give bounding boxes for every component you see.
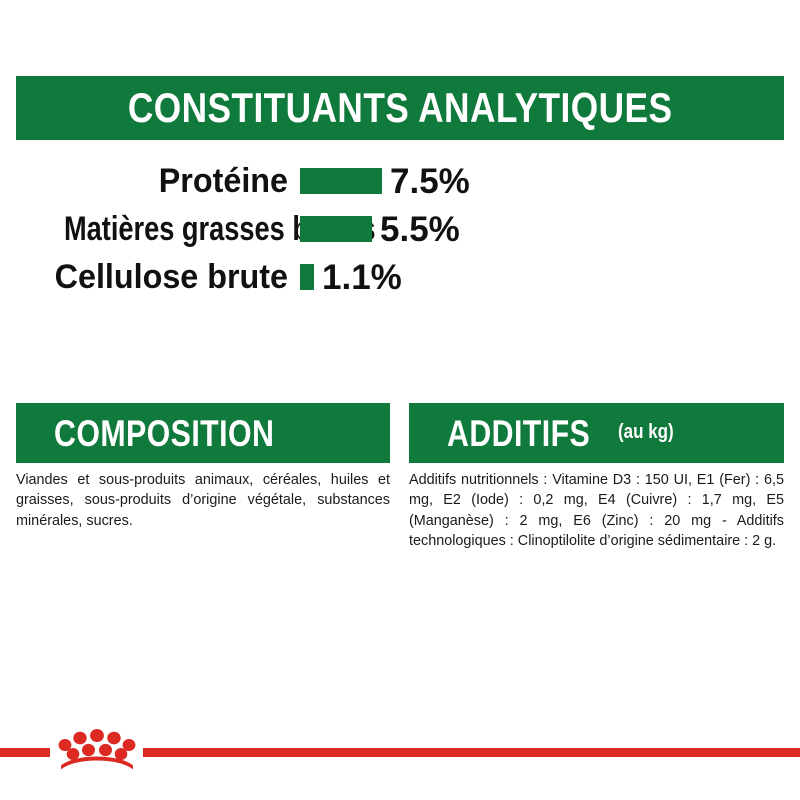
footer-rule-right <box>143 748 800 757</box>
composition-title: COMPOSITION <box>54 415 274 452</box>
analytical-constituents-title: CONSTITUANTS ANALYTIQUES <box>128 87 673 129</box>
chart-row: Protéine 7.5% <box>0 157 800 205</box>
additives-subtitle: (au kg) <box>618 421 674 446</box>
chart-row-value: 7.5% <box>390 164 470 199</box>
composition-body-text: Viandes et sous-produits animaux, céréal… <box>16 470 390 531</box>
royal-canin-crown-icon <box>57 726 137 770</box>
analytical-constituents-chart: Protéine 7.5% Matières grasses brutes 5.… <box>0 157 800 301</box>
chart-row: Matières grasses brutes 5.5% <box>0 205 800 253</box>
footer-rule-left <box>0 748 50 757</box>
chart-bar <box>300 216 372 242</box>
composition-banner: COMPOSITION <box>16 403 390 463</box>
chart-row-label: Matières grasses brutes <box>64 212 288 246</box>
chart-row-label: Cellulose brute <box>22 260 288 294</box>
chart-bar <box>300 168 382 194</box>
additives-banner: ADDITIFS (au kg) <box>409 403 784 463</box>
nutrition-panel: CONSTITUANTS ANALYTIQUES Protéine 7.5% M… <box>0 0 800 800</box>
additives-body-text: Additifs nutritionnels : Vitamine D3 : 1… <box>409 470 784 552</box>
chart-row-value: 5.5% <box>380 212 460 247</box>
chart-row-value: 1.1% <box>322 260 402 295</box>
chart-bar-group: 5.5% <box>300 212 460 247</box>
analytical-constituents-banner: CONSTITUANTS ANALYTIQUES <box>16 76 784 140</box>
chart-bar-group: 7.5% <box>300 164 470 199</box>
chart-bar-group: 1.1% <box>300 260 402 295</box>
chart-row: Cellulose brute 1.1% <box>0 253 800 301</box>
additives-title: ADDITIFS <box>447 415 590 452</box>
chart-row-label: Protéine <box>22 164 288 198</box>
chart-bar <box>300 264 314 290</box>
